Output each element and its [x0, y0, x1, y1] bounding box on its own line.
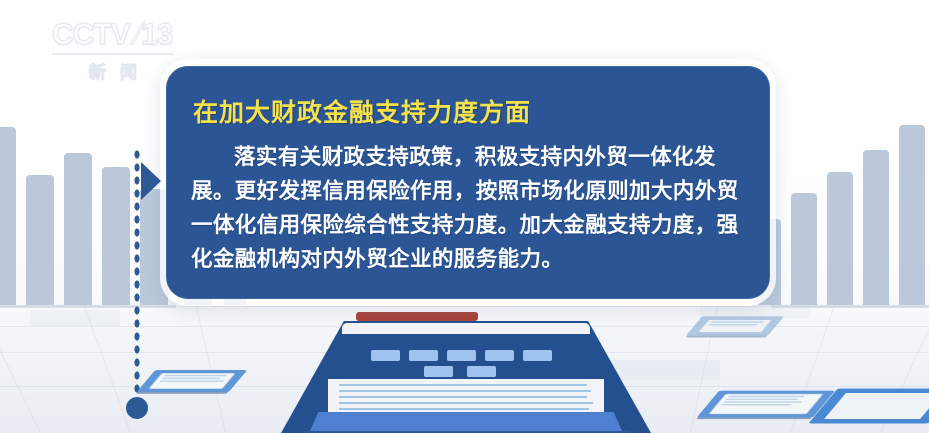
broadcast-graphic-stage: CCTV/13 新闻 在加大财政金融支持力度方面 落实有关财政支持政策，积极支持…: [0, 0, 929, 433]
cctv-logo-rule: [52, 53, 174, 55]
tablet-row: [711, 321, 764, 322]
document-red-header-bar: [356, 312, 478, 321]
connector-end-dot: [126, 397, 148, 419]
document-tab: [371, 350, 400, 361]
cctv-logo-subtitle: 新闻: [52, 58, 174, 83]
bar: [827, 172, 853, 305]
document-text-line: [339, 396, 587, 398]
document-tab: [409, 350, 438, 361]
cctv-logo-number: 13: [141, 18, 172, 51]
floor-patch: [30, 310, 120, 326]
card-pointer-triangle: [141, 162, 161, 200]
document-text-line: [339, 384, 587, 386]
policy-document-illustration: [281, 307, 651, 433]
document-tab: [523, 350, 552, 361]
cctv-logo-text: CCTV: [52, 18, 130, 51]
bar: [64, 153, 92, 305]
chart-baseline-left: [0, 305, 176, 308]
tablet-row: [721, 404, 792, 405]
bar: [899, 125, 925, 305]
tablet-row: [162, 378, 221, 379]
document-text-line: [339, 408, 589, 410]
bar: [26, 175, 54, 305]
bar: [791, 193, 817, 305]
bar: [863, 150, 889, 305]
tablet-corner: [823, 371, 929, 433]
bar: [0, 127, 16, 305]
dotted-connector-line: [133, 148, 141, 403]
card-title: 在加大财政金融支持力度方面: [193, 93, 531, 129]
card-surface: 在加大财政金融支持力度方面 落实有关财政支持政策，积极支持内外贸一体化发展。更好…: [166, 66, 770, 299]
tablet-right-upper: [694, 305, 776, 347]
chart-baseline-right: [771, 305, 929, 308]
background-bar-chart-right: [773, 90, 929, 305]
tablet-left: [146, 357, 238, 405]
document-tab: [447, 350, 476, 361]
document-tab: [485, 350, 514, 361]
document-tab: [467, 366, 496, 377]
tablet-right-lower: [708, 375, 824, 433]
cctv-logo-wordmark: CCTV/13: [52, 18, 184, 52]
tablet-content-rows: [715, 396, 817, 413]
document-text-line: [339, 390, 591, 392]
bar: [102, 167, 130, 305]
document-top-strip: [342, 323, 590, 334]
document-base-band: [309, 412, 623, 433]
tablet-row: [728, 396, 805, 397]
tablet-row: [725, 398, 798, 399]
document-paper-area: [328, 379, 604, 414]
document-tab: [424, 366, 453, 377]
tablet-row: [164, 375, 227, 376]
tablet-row: [159, 381, 224, 382]
document-text-line: [339, 402, 593, 404]
tablet-row: [708, 324, 757, 325]
tablet-content-rows: [155, 375, 229, 387]
card-body-text: 落实有关财政支持政策，积极支持内外贸一体化发展。更好发挥信用保险作用，按照市场化…: [191, 140, 748, 276]
tablet-content-rows: [704, 321, 766, 330]
tablet-row: [723, 401, 802, 402]
policy-callout-card: 在加大财政金融支持力度方面 落实有关财政支持政策，积极支持内外贸一体化发展。更好…: [166, 66, 770, 299]
